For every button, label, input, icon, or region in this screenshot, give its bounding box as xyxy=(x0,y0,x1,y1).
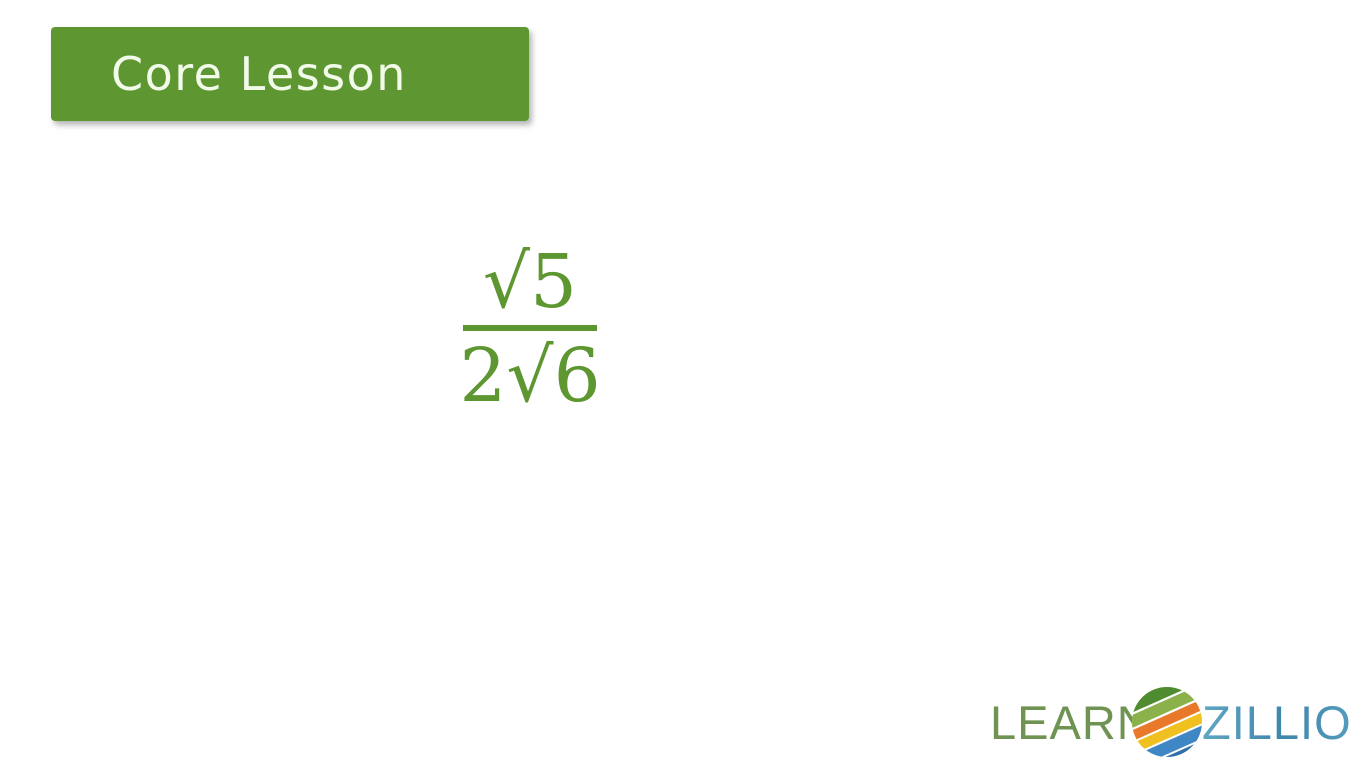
logo-text-learn: LEARN xyxy=(990,696,1152,749)
numerator-radicand: 5 xyxy=(530,239,577,325)
denominator-coefficient: 2 xyxy=(459,333,506,419)
fraction: √5 2√6 xyxy=(453,245,606,413)
fraction-numerator: √5 xyxy=(453,245,606,325)
core-lesson-banner: Core Lesson xyxy=(51,27,529,121)
learnzillion-logo: LEARN ZILLION xyxy=(990,686,1354,760)
radical-symbol-numerator: √ xyxy=(483,245,530,319)
core-lesson-banner-label: Core Lesson xyxy=(51,51,407,97)
fraction-denominator: 2√6 xyxy=(453,331,606,413)
denominator-radicand: 6 xyxy=(554,333,601,419)
radical-symbol-denominator: √ xyxy=(506,339,553,413)
logo-text-zillion: ZILLION xyxy=(1202,696,1354,749)
math-expression: √5 2√6 xyxy=(440,245,620,413)
